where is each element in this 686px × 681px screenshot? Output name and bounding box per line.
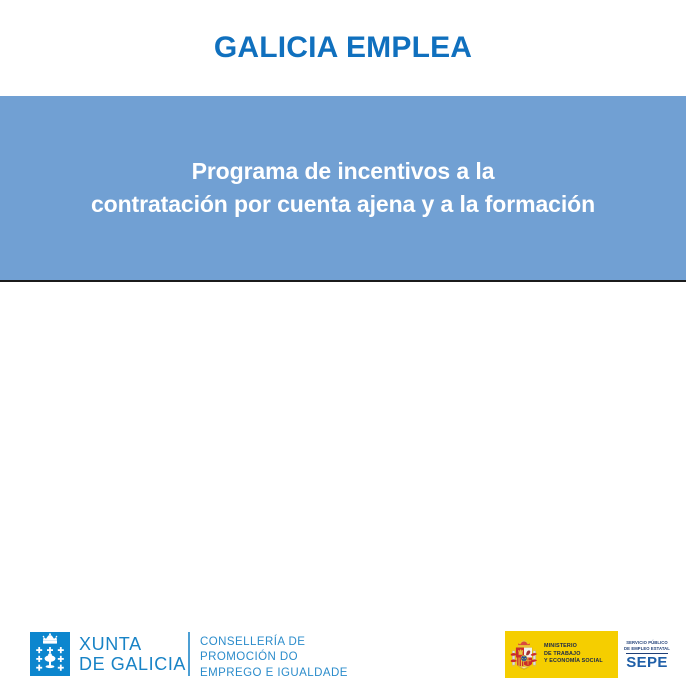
sepe-acronym: SEPE	[626, 655, 668, 670]
xunta-logo-line-1: XUNTA	[79, 634, 186, 654]
ministerio-de-trabajo-logo: MINISTERIO DE TRABAJO Y ECONOMÍA SOCIAL	[505, 631, 618, 678]
xunta-de-galicia-logo: XUNTA DE GALICIA	[30, 632, 186, 676]
banner-heading: Programa de incentivos a la contratación…	[79, 155, 607, 220]
ministerio-line-3: Y ECONOMÍA SOCIAL	[544, 658, 603, 666]
ministerio-line-2: DE TRABAJO	[544, 651, 603, 659]
sepe-caption-line-1: SERVICIO PÚBLICO	[624, 640, 670, 646]
sepe-caption: SERVICIO PÚBLICO DE EMPLEO ESTATAL	[624, 640, 670, 651]
government-logos-block: MINISTERIO DE TRABAJO Y ECONOMÍA SOCIAL …	[505, 631, 676, 678]
logo-divider	[188, 632, 190, 676]
xunta-logo-text: XUNTA DE GALICIA	[79, 634, 186, 674]
conselleria-line-3: EMPREGO E IGUALDADE	[200, 666, 348, 681]
footer-logo-bar: XUNTA DE GALICIA CONSELLERÍA DE PROMOCIÓ…	[0, 284, 686, 410]
sepe-logo: SERVICIO PÚBLICO DE EMPLEO ESTATAL SEPE	[618, 631, 676, 678]
sepe-caption-line-2: DE EMPLEO ESTATAL	[624, 646, 670, 652]
ministerio-text: MINISTERIO DE TRABAJO Y ECONOMÍA SOCIAL	[544, 643, 603, 666]
conselleria-line-1: CONSELLERÍA DE	[200, 635, 348, 650]
ministerio-line-1: MINISTERIO	[544, 643, 603, 651]
xunta-logo-line-2: DE GALICIA	[79, 654, 186, 674]
sepe-divider	[626, 653, 668, 654]
xunta-coat-of-arms-icon	[30, 632, 70, 676]
banner-heading-line-1: Programa de incentivos a la	[91, 155, 595, 188]
conselleria-line-2: PROMOCIÓN DO	[200, 650, 348, 665]
program-banner: Programa de incentivos a la contratación…	[0, 96, 686, 282]
banner-heading-line-2: contratación por cuenta ajena y a la for…	[91, 188, 595, 221]
conselleria-text: CONSELLERÍA DE PROMOCIÓN DO EMPREGO E IG…	[200, 635, 348, 681]
title-zone: GALICIA EMPLEA	[0, 0, 686, 96]
page-title: GALICIA EMPLEA	[214, 33, 472, 63]
spain-coat-of-arms-icon	[509, 638, 539, 672]
